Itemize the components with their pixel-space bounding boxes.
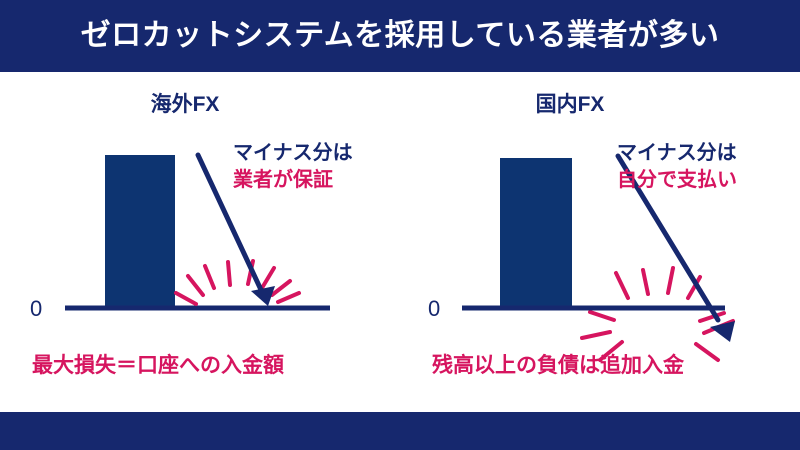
impact-burst-overseas [176, 261, 299, 304]
bar-balance-domestic [500, 158, 572, 308]
impact-burst-domestic [582, 268, 733, 360]
annotation-overseas-fx: マイナス分は 業者が保証 [233, 140, 353, 194]
caption-domestic-fx: 残高以上の負債は追加入金 [432, 355, 684, 376]
header-bar: ゼロカットシステムを採用している業者が多い [0, 0, 800, 72]
zero-label-domestic: 0 [428, 296, 440, 321]
infographic-root: ゼロカットシステムを採用している業者が多い 海外FX [0, 0, 800, 450]
zero-label-overseas: 0 [30, 296, 42, 321]
caption-overseas-fx: 最大損失＝口座への入金額 [32, 355, 284, 376]
annotation-overseas-line-1: マイナス分は [233, 140, 353, 167]
annotation-overseas-line-2: 業者が保証 [233, 167, 353, 194]
annotation-domestic-fx: マイナス分は 自分で支払い [617, 140, 737, 194]
footer-bar [0, 412, 800, 450]
bar-balance-overseas [105, 155, 175, 308]
page-title: ゼロカットシステムを採用している業者が多い [81, 21, 720, 51]
annotation-domestic-line-2: 自分で支払い [617, 167, 737, 194]
annotation-domestic-line-1: マイナス分は [617, 140, 737, 167]
